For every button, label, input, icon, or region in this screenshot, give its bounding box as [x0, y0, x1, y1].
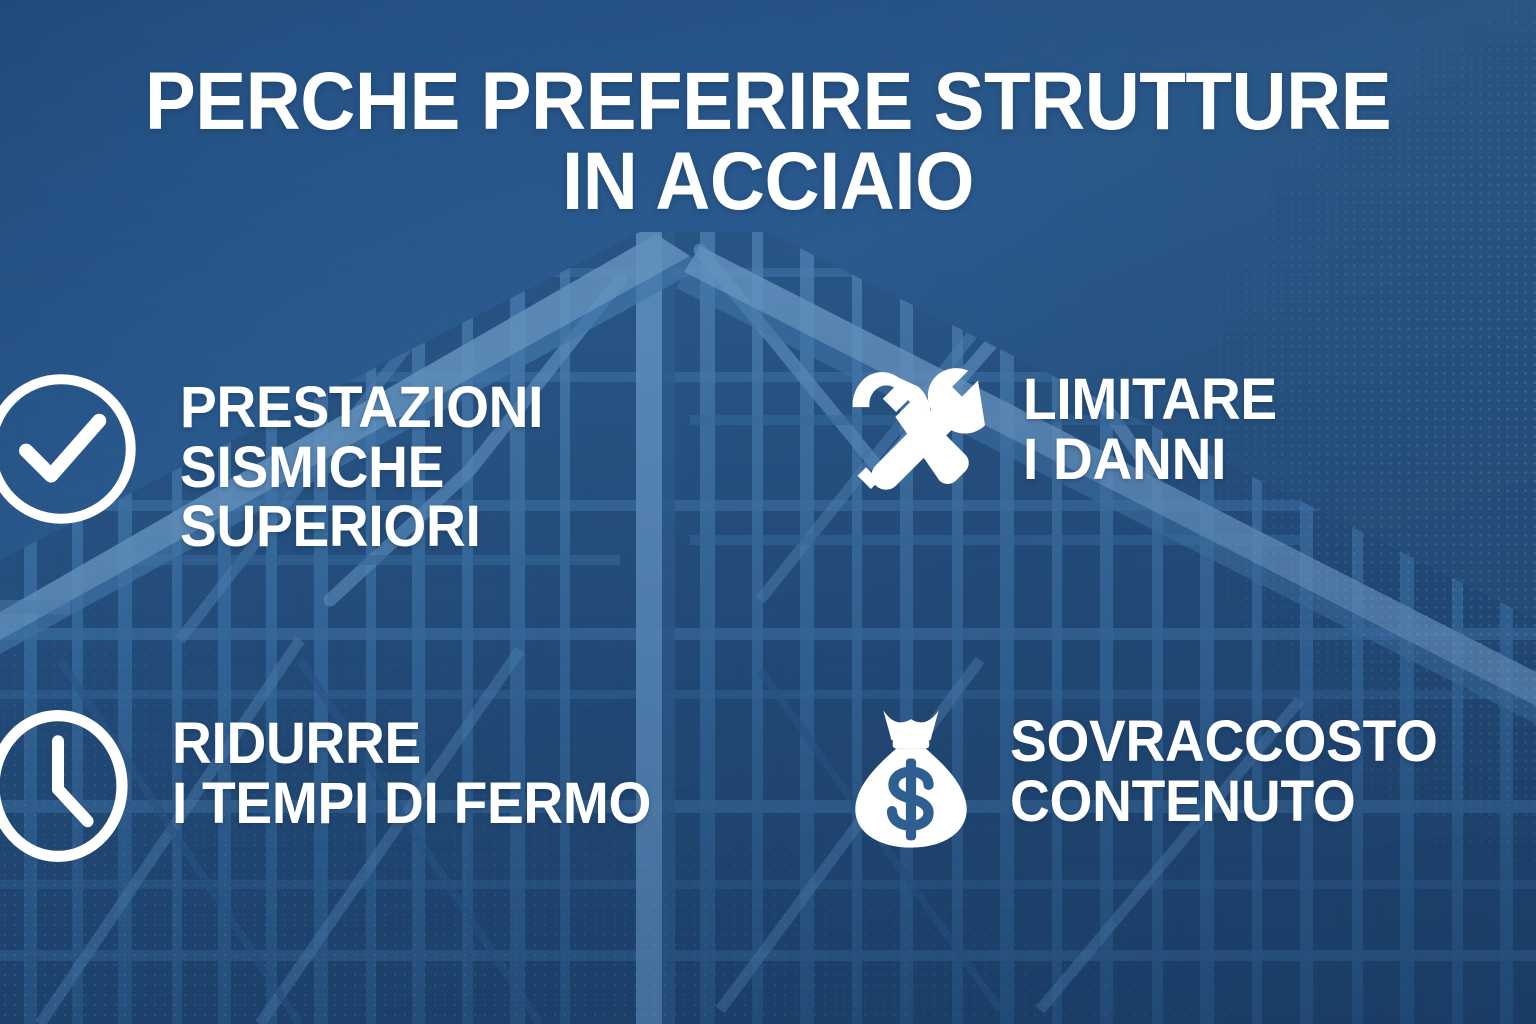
feature-item-prestazioni-sismiche-superiori: PRESTAZIONI SISMICHE SUPERIORI: [0, 366, 562, 557]
hammer-wrench-icon: [845, 360, 985, 511]
feature-item-limitare-i-danni: LIMITARE I DANNI: [845, 360, 1290, 511]
check-circle-icon: [0, 366, 144, 537]
page-title: PERCHE PREFERIRE STRUTTURE IN ACCIAIO: [54, 62, 1482, 223]
infographic-poster: PERCHE PREFERIRE STRUTTURE IN ACCIAIO PR…: [0, 0, 1536, 1024]
feature-item-sovraccosto-contenuto: SOVRACCOSTO CONTENUTO: [852, 706, 1460, 857]
clock-icon: [0, 706, 134, 871]
feature-label: RIDURRE I TEMPI DI FERMO: [172, 714, 651, 833]
feature-label: LIMITARE I DANNI: [1023, 370, 1277, 489]
feature-label: SOVRACCOSTO CONTENUTO: [1010, 712, 1438, 831]
feature-item-ridurre-i-tempi-di-fermo: RIDURRE I TEMPI DI FERMO: [0, 706, 676, 871]
feature-label: PRESTAZIONI SISMICHE SUPERIORI: [180, 378, 543, 557]
money-bag-icon: [852, 706, 970, 857]
